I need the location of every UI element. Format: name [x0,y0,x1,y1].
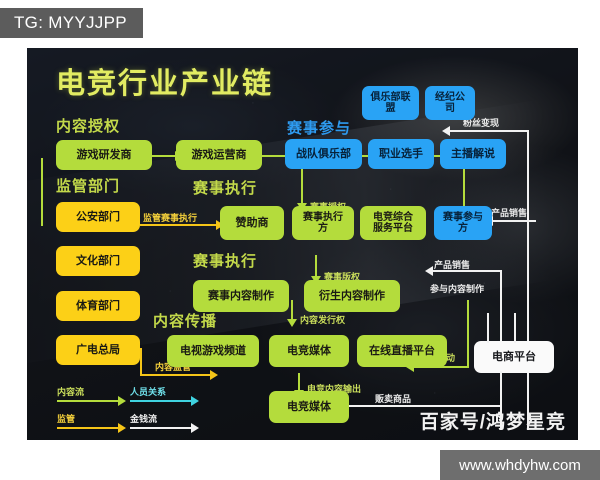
node-service-platform[interactable]: 电竞综合服务平台 [360,206,426,240]
edge-developer-to-operator [152,155,176,157]
section-heading-regulators: 监管部门 [56,175,120,196]
edge-regulator-to-sponsor [140,224,218,226]
node-event-executor[interactable]: 赛事执行方 [292,206,354,240]
legend-line-money-flow [130,427,193,429]
edge-event-copyright [315,255,317,277]
edge-label-content-dist-right: 内容发行权 [300,313,345,326]
edge-live-activity-vertical [467,300,469,366]
tg-badge: TG: MYYJJPP [0,8,143,38]
edge-fan-monetization-vertical [527,130,529,430]
edge-left-vertical-green [41,158,43,226]
site-url-watermark: www.whdyhw.com [440,450,600,480]
section-heading-event-execution-2: 赛事执行 [193,250,257,271]
arrow-fan-monetization [442,126,450,136]
node-culture-dept[interactable]: 文化部门 [56,246,140,276]
legend-arrow-money-flow [191,423,199,433]
legend-line-people-rel [130,400,193,402]
section-heading-content-license: 内容授权 [56,115,120,136]
legend-line-content-flow [57,400,120,402]
node-game-operator[interactable]: 游戏运营商 [176,140,262,170]
edge-ecommerce-down [500,371,502,407]
legend-arrow-regulation [118,423,126,433]
legend-line-regulation [57,427,120,429]
edge-ecommerce-up-right [514,313,516,343]
edge-product-sales-top [490,220,536,222]
node-ecommerce-platform[interactable]: 电商平台 [474,341,554,373]
node-event-participant[interactable]: 赛事参与方 [434,206,492,240]
node-public-security[interactable]: 公安部门 [56,202,140,232]
edge-content-dist-right [291,300,293,320]
node-sarft[interactable]: 广电总局 [56,335,140,365]
node-event-content-prod[interactable]: 赛事内容制作 [193,280,289,312]
node-sponsor[interactable]: 赞助商 [220,206,284,240]
watermark-signature: 百家号/鸿梦星竞 [420,407,566,434]
stadium-background-photo [27,48,578,440]
node-derivative-content[interactable]: 衍生内容制作 [304,280,400,312]
diagram-title: 电竞行业产业链 [56,60,273,102]
edge-fan-monetization-horizontal [447,130,529,132]
edge-label-product-sales-top: 产品销售 [491,206,527,219]
node-club-alliance[interactable]: 俱乐部联盟 [362,86,419,120]
edge-to-team-club [301,174,303,194]
legend-arrow-content-flow [118,396,126,406]
section-heading-event-execution-1: 赛事执行 [193,177,257,198]
node-tv-game-channel[interactable]: 电视游戏频道 [167,335,259,367]
edge-label-regulate-event-exec: 监管赛事执行 [143,211,197,224]
node-sports-dept[interactable]: 体育部门 [56,291,140,321]
node-esports-media-bottom[interactable]: 电竞媒体 [269,391,349,423]
arrow-product-sales-mid [425,266,433,276]
legend-label-money-flow: 金钱流 [130,412,157,425]
node-team-club[interactable]: 战队俱乐部 [285,139,362,169]
node-pro-player[interactable]: 职业选手 [368,139,434,169]
edge-sarft-down [140,348,142,376]
arrow-content-regulation [210,370,218,380]
node-esports-media-top[interactable]: 电竞媒体 [269,335,349,367]
edge-esports-content-out [298,373,300,391]
edge-ecommerce-up-left [487,313,489,343]
legend-arrow-people-rel [191,396,199,406]
legend-label-regulation: 监管 [57,412,75,425]
site-url-text: www.whdyhw.com [459,457,581,474]
industry-chain-diagram: 电竞行业产业链 内容授权 监管部门 赛事参与 赛事执行 赛事执行 内容传播 赛事… [27,48,578,440]
tg-badge-text: TG: MYYJJPP [14,13,127,33]
node-game-developer[interactable]: 游戏研发商 [56,140,152,170]
arrow-content-dist-right [287,319,297,327]
edge-label-product-sales-mid: 产品销售 [434,258,470,271]
edge-label-sell-goods: 贩卖商品 [375,392,411,405]
section-heading-event-participation: 赛事参与 [287,117,351,138]
node-live-platform[interactable]: 在线直播平台 [357,335,447,367]
node-streamer-caster[interactable]: 主播解说 [440,139,506,169]
edge-label-join-content-prod: 参与内容制作 [430,282,484,295]
section-heading-content-distribution: 内容传播 [153,310,217,331]
edge-sarft-right [140,374,212,376]
legend-label-people-rel: 人员关系 [130,385,166,398]
node-agency-company[interactable]: 经纪公司 [425,86,475,120]
legend-label-content-flow: 内容流 [57,385,84,398]
